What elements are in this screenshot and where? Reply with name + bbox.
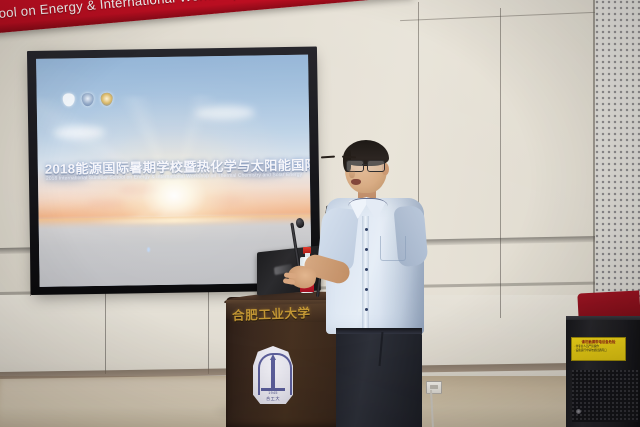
speaker-shirt-pocket	[380, 236, 406, 261]
emblem-name: 合工大	[253, 396, 293, 402]
speaker-shirt-placket	[362, 216, 369, 334]
speaker-belt	[336, 328, 422, 334]
shirt-button	[365, 228, 368, 231]
acoustic-panel	[595, 0, 640, 300]
cabinet-vent-mesh	[572, 370, 638, 422]
warning-label-title: 请勿触摸带电设备危险	[574, 340, 623, 344]
speaker-eyebrow-left	[321, 156, 335, 159]
glasses-bridge	[362, 164, 368, 165]
warning-label-line2: · 设备运行中请勿遮挡通风口	[574, 349, 623, 352]
institution-logo-1-icon	[63, 93, 75, 106]
shirt-button	[365, 288, 368, 291]
institution-logo-3-icon	[101, 93, 113, 106]
cabinet-power-led	[576, 409, 581, 414]
slide-artifact	[147, 247, 150, 252]
speaker-trousers	[336, 330, 422, 427]
glasses-lens-right	[367, 160, 385, 172]
acoustic-panel-edge	[593, 0, 595, 300]
speaker-collar-trim	[348, 198, 388, 219]
shirt-button	[365, 268, 368, 271]
emblem-year: 1945	[253, 391, 293, 395]
speaker-mouth	[351, 179, 361, 185]
shirt-button	[365, 308, 368, 311]
speaker-person	[318, 140, 428, 427]
wall-power-socket	[426, 381, 442, 394]
warning-label: 请勿触摸带电设备危险 · 非专业人员严禁操作 · 设备运行中请勿遮挡通风口	[571, 337, 626, 361]
speaker-nose	[349, 168, 355, 178]
socket-slot	[430, 385, 438, 389]
university-emblem: 1945 合工大	[253, 346, 293, 404]
lecture-hall-photo: chool on Energy & International Workshop…	[0, 0, 640, 427]
shirt-button	[365, 248, 368, 251]
institution-logo-2-icon	[82, 93, 94, 106]
wall-seam-vertical	[500, 8, 501, 318]
emblem-tower-icon	[271, 359, 275, 389]
warning-label-line1: · 非专业人员严禁操作	[574, 345, 623, 348]
slide-logo-row	[63, 93, 113, 107]
